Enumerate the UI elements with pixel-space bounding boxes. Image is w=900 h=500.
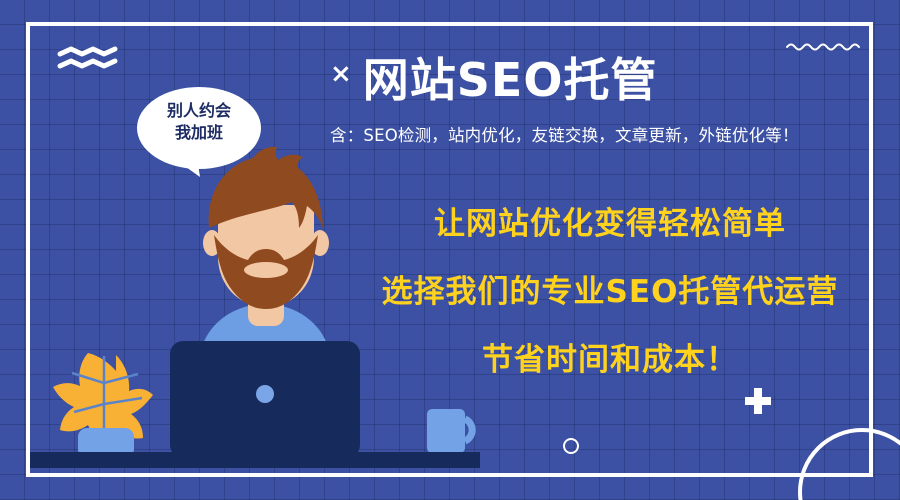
speech-bubble-line-1: 别人约会 xyxy=(141,100,257,122)
speech-bubble-text: 别人约会 我加班 xyxy=(141,100,257,144)
page-title-text: 网站SEO托管 xyxy=(363,53,658,107)
speech-bubble-line-2: 我加班 xyxy=(141,122,257,144)
promo-line-2: 选择我们的专业SEO托管代运营 xyxy=(330,266,890,311)
subtitle: 含：SEO检测，站内优化，友链交换，文章更新，外链优化等！ xyxy=(330,122,890,146)
promo-line-3: 节省时间和成本！ xyxy=(330,334,890,379)
seo-banner: 别人约会 我加班 ×网站SEO托管 含：SEO检测，站内优化，友链交换，文章更新… xyxy=(0,0,900,500)
page-title: ×网站SEO托管 xyxy=(330,44,890,110)
promo-line-1: 让网站优化变得轻松简单 xyxy=(330,198,890,243)
cross-icon: × xyxy=(330,59,353,89)
